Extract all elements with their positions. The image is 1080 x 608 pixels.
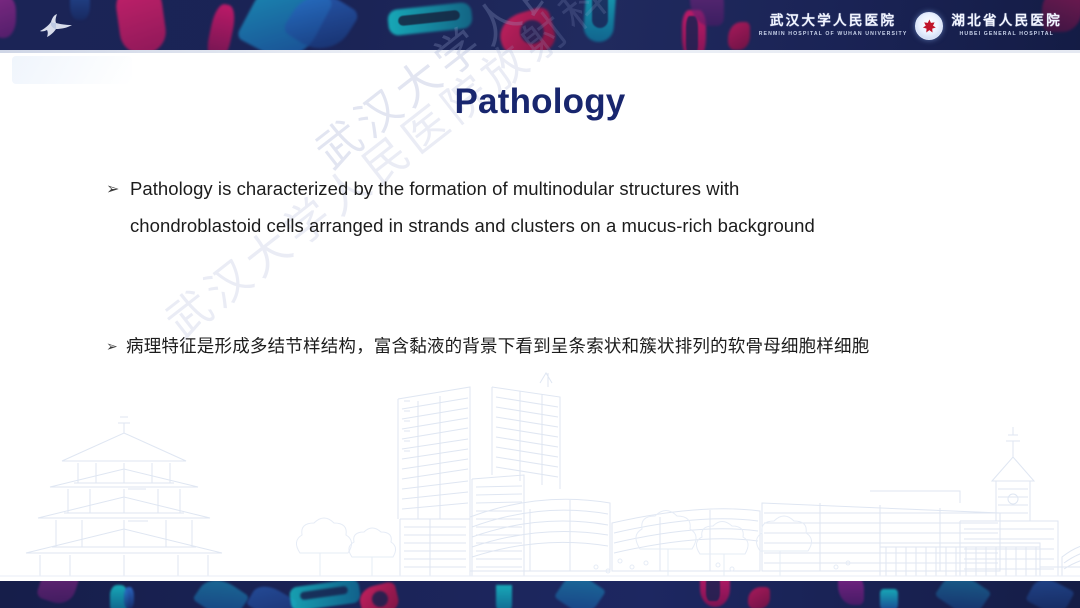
decor-ribbon xyxy=(372,591,388,607)
slide-header-band: 武汉大学人民医院 RENMIN HOSPITAL OF WUHAN UNIVER… xyxy=(0,0,1080,50)
decor-ribbon xyxy=(1025,581,1074,608)
bullet-item-english: ➢ Pathology is characterized by the form… xyxy=(106,170,866,244)
decor-ribbon xyxy=(192,581,249,608)
bullet-text-chinese: 病理特征是形成多结节样结构，富含黏液的背景下看到呈条索状和簇状排列的软骨母细胞样… xyxy=(126,332,869,362)
decor-ribbon xyxy=(728,22,750,50)
hospital-name-en-right: HUBEI GENERAL HOSPITAL xyxy=(951,32,1062,37)
decor-ribbon xyxy=(592,0,608,28)
hospital-emblem-icon xyxy=(915,12,943,40)
hospital-name-cn-right: 湖北省人民医院 xyxy=(951,15,1062,29)
decor-ribbon xyxy=(686,16,698,50)
page-title: Pathology xyxy=(0,82,1080,122)
decor-ribbon xyxy=(520,20,544,44)
crane-bird-logo-icon xyxy=(34,12,78,40)
decor-ribbon xyxy=(124,587,134,608)
hospital-logo-lockup: 武汉大学人民医院 RENMIN HOSPITAL OF WUHAN UNIVER… xyxy=(759,9,1062,43)
decor-ribbon xyxy=(0,0,16,38)
decor-ribbon xyxy=(838,581,864,605)
bullet-arrow-icon: ➢ xyxy=(106,170,130,207)
slide-content: Pathology ➢ Pathology is characterized b… xyxy=(0,50,1080,581)
decor-ribbon xyxy=(204,2,238,50)
decor-ribbon xyxy=(706,581,720,601)
slide-footer-band xyxy=(0,581,1080,608)
decor-ribbon xyxy=(934,581,991,608)
bullet-text-english: Pathology is characterized by the format… xyxy=(130,170,866,244)
decor-ribbon xyxy=(880,589,898,608)
presentation-slide: 武汉大学人民医院 RENMIN HOSPITAL OF WUHAN UNIVER… xyxy=(0,0,1080,608)
decor-ribbon xyxy=(36,581,81,608)
bullet-item-chinese: ➢ 病理特征是形成多结节样结构，富含黏液的背景下看到呈条索状和簇状排列的软骨母细… xyxy=(106,332,1046,362)
decor-ribbon xyxy=(748,587,770,608)
decor-ribbon xyxy=(554,581,606,608)
hospital-name-left: 武汉大学人民医院 RENMIN HOSPITAL OF WUHAN UNIVER… xyxy=(759,15,908,37)
hospital-name-right: 湖北省人民医院 HUBEI GENERAL HOSPITAL xyxy=(951,15,1062,37)
bullet-arrow-icon: ➢ xyxy=(106,332,126,362)
decor-ribbon xyxy=(113,0,168,50)
decor-ribbon xyxy=(496,585,512,608)
hospital-name-en-left: RENMIN HOSPITAL OF WUHAN UNIVERSITY xyxy=(759,32,908,37)
hospital-name-cn-left: 武汉大学人民医院 xyxy=(759,15,908,29)
